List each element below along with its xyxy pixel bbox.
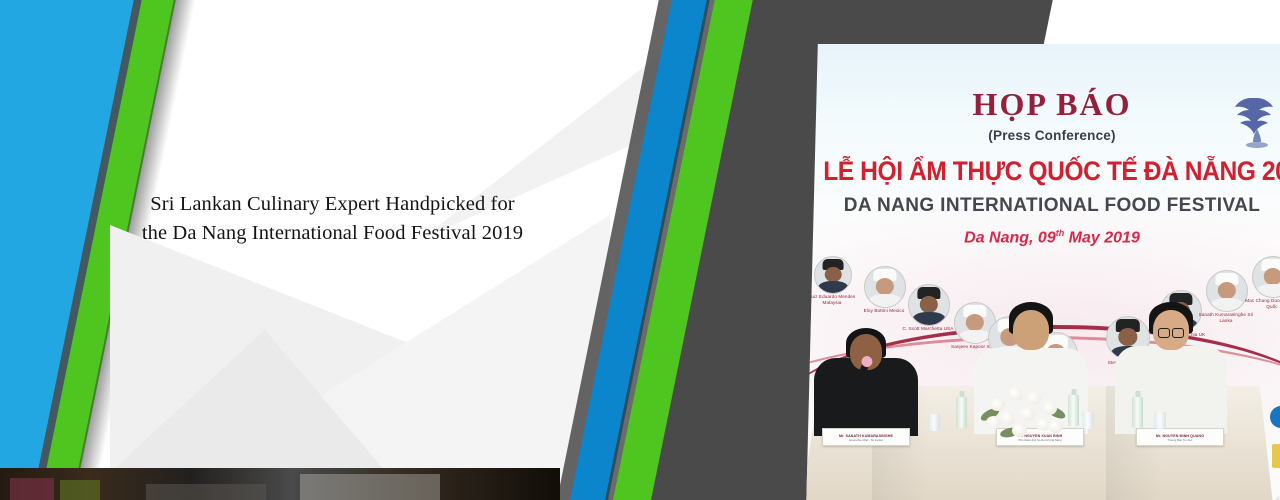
- water-bottle: [1132, 396, 1143, 428]
- banner-festival-english: DA NANG INTERNATIONAL FOOD FESTIVAL: [806, 195, 1280, 217]
- flower-arrangement: [978, 380, 1074, 442]
- water-glass: [1082, 412, 1094, 429]
- chef-portrait: [908, 284, 950, 326]
- headline-line-2: the Da Nang International Food Festival …: [142, 222, 523, 244]
- banner-date: Da Nang, 09th May 2019: [806, 228, 1280, 247]
- sponsor-right-logo: [1272, 444, 1280, 468]
- speaker-nameplate: Mr. SANATH KUMARASINGHE Executive Chef -…: [822, 428, 910, 446]
- headline-line-1: Sri Lankan Culinary Expert Handpicked fo…: [150, 193, 514, 215]
- glasses-icon: [1158, 328, 1184, 336]
- press-conference-photo: HỌP BÁO (Press Conference) LỄ HỘI ẨM THỰ…: [806, 44, 1280, 500]
- banner-festival-vietnamese: LỄ HỘI ẨM THỰC QUỐC TẾ ĐÀ NẴNG 2019: [823, 156, 1280, 187]
- chef-caption: Luiz Eduardo Mendes Malaysia: [806, 294, 865, 305]
- speaker: [1106, 302, 1236, 434]
- banner-date-prefix: Da Nang, 09: [964, 229, 1056, 246]
- slide-canvas: Sri Lankan Culinary Expert Handpicked fo…: [0, 0, 1280, 500]
- speaker: [806, 326, 926, 436]
- banner-date-suffix: May 2019: [1064, 229, 1140, 246]
- bottom-photo-strip: [0, 468, 560, 500]
- banner-title-english: (Press Conference): [806, 128, 1280, 143]
- chef-caption: Mac Chung Duong Trung Quốc: [1239, 298, 1280, 309]
- banner-title-vietnamese: HỌP BÁO: [806, 86, 1280, 123]
- speaker-nameplate: Mr. NGUYEN MINH QUANG Truong Ban To chuc: [1136, 428, 1224, 446]
- chef-portrait: [1252, 256, 1280, 298]
- nameplate-role: Executive Chef - Sri Lanka: [823, 438, 909, 442]
- chef-portrait: [814, 256, 852, 294]
- nameplate-role: Truong Ban To chuc: [1137, 438, 1223, 442]
- water-glass: [1154, 412, 1166, 429]
- chef-portrait: [864, 266, 906, 308]
- water-bottle: [956, 396, 967, 428]
- article-headline: Sri Lankan Culinary Expert Handpicked fo…: [70, 190, 595, 248]
- chef-caption: Eloy Bottini Mexico: [851, 308, 917, 314]
- banner-date-superscript: th: [1056, 228, 1065, 238]
- water-glass: [928, 414, 940, 431]
